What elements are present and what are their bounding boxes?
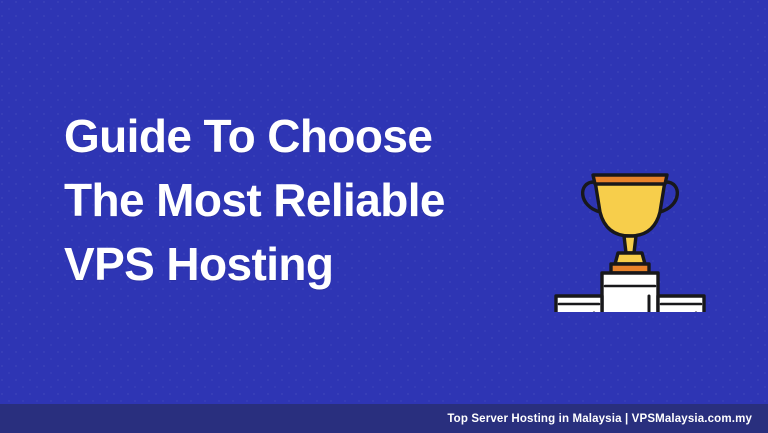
hero-banner: Guide To Choose The Most Reliable VPS Ho… [0,0,768,433]
trophy-podium-illustration [548,168,712,312]
footer-bar: Top Server Hosting in Malaysia | VPSMala… [0,404,768,433]
footer-tagline: Top Server Hosting in Malaysia | VPSMala… [447,413,768,425]
trophy-rim [593,175,667,184]
trophy-cup [595,181,665,236]
trophy-stem [624,236,636,253]
page-title: Guide To Choose The Most Reliable VPS Ho… [64,104,584,296]
headline-line-2: The Most Reliable [64,168,584,232]
headline-line-1: Guide To Choose [64,104,584,168]
headline-line-3: VPS Hosting [64,232,584,296]
